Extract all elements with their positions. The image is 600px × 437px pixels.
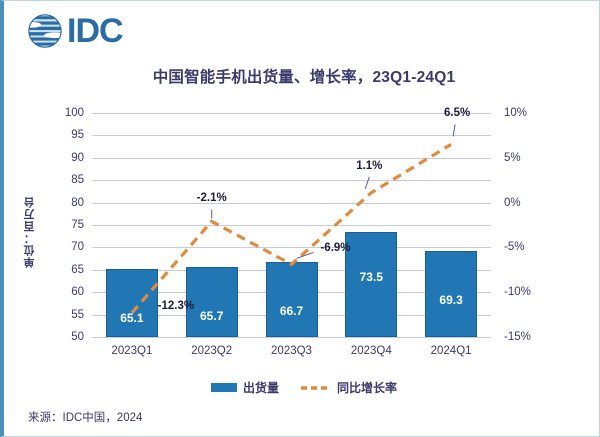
bar[interactable] bbox=[345, 232, 397, 337]
legend-line-label: 同比增长率 bbox=[337, 379, 397, 396]
legend-item-shipments[interactable]: 出货量 bbox=[211, 379, 279, 396]
bar-value-label: 69.3 bbox=[439, 293, 462, 307]
growth-rate-label: -6.9% bbox=[320, 242, 350, 254]
y-axis-left-tick: 90 bbox=[50, 152, 84, 164]
y-axis-left-tick: 50 bbox=[50, 331, 84, 343]
growth-rate-label: -2.1% bbox=[197, 192, 227, 204]
growth-rate-label: 6.5% bbox=[444, 107, 470, 119]
legend-bar-swatch bbox=[211, 383, 237, 392]
x-axis-tick: 2023Q4 bbox=[351, 345, 392, 357]
gridline bbox=[92, 113, 491, 114]
legend-bar-label: 出货量 bbox=[243, 379, 279, 396]
x-axis-tick: 2023Q1 bbox=[111, 345, 152, 357]
gridline bbox=[92, 247, 491, 248]
label-leader-line bbox=[297, 252, 314, 258]
y-axis-right-tick: 5% bbox=[504, 152, 548, 164]
bar-value-label: 65.1 bbox=[120, 311, 143, 325]
plot-area: 10095908580757065605550 10%5%0%-5%-10%-1… bbox=[4, 1, 600, 437]
y-axis-left-tick: 60 bbox=[50, 286, 84, 298]
gridline bbox=[92, 203, 491, 204]
growth-rate-label: 1.1% bbox=[356, 160, 382, 172]
gridline bbox=[92, 158, 491, 159]
y-axis-left-tick: 55 bbox=[50, 309, 84, 321]
chart-legend: 出货量 同比增长率 bbox=[4, 379, 600, 396]
bar-value-label: 65.7 bbox=[200, 309, 223, 323]
growth-rate-label: -12.3% bbox=[158, 300, 194, 312]
y-axis-left-tick: 80 bbox=[50, 197, 84, 209]
source-note: 来源：IDC中国，2024 bbox=[28, 409, 142, 425]
bar[interactable] bbox=[266, 262, 318, 337]
y-axis-right-tick: -15% bbox=[504, 331, 548, 343]
x-axis-tick: 2023Q2 bbox=[191, 345, 232, 357]
y-axis-left-tick: 95 bbox=[50, 129, 84, 141]
bar-value-label: 66.7 bbox=[280, 304, 303, 318]
y-axis-left-tick: 75 bbox=[50, 219, 84, 231]
gridline bbox=[92, 180, 491, 181]
y-axis-left-tick: 85 bbox=[50, 174, 84, 186]
x-axis-tick: 2024Q1 bbox=[431, 345, 472, 357]
gridline bbox=[92, 225, 491, 226]
legend-item-growth-rate[interactable]: 同比增长率 bbox=[301, 379, 397, 396]
line-series bbox=[4, 1, 600, 437]
gridline bbox=[92, 135, 491, 136]
y-axis-right-tick: 0% bbox=[504, 197, 548, 209]
bar[interactable] bbox=[106, 269, 158, 337]
x-axis-tick: 2023Q3 bbox=[271, 345, 312, 357]
legend-line-swatch bbox=[301, 383, 331, 393]
bar-value-label: 73.5 bbox=[360, 270, 383, 284]
label-leader-line bbox=[365, 177, 369, 189]
y-axis-right-tick: -10% bbox=[504, 286, 548, 298]
y-axis-left-tick: 100 bbox=[50, 107, 84, 119]
y-axis-right-tick: 10% bbox=[504, 107, 548, 119]
y-axis-left-tick: 65 bbox=[50, 264, 84, 276]
chart-page: IDC 中国智能手机出货量、增长率，23Q1-24Q1 单位：百万台 10095… bbox=[0, 0, 600, 437]
gridline bbox=[92, 337, 491, 338]
y-axis-left-tick: 70 bbox=[50, 241, 84, 253]
y-axis-right-tick: -5% bbox=[504, 241, 548, 253]
